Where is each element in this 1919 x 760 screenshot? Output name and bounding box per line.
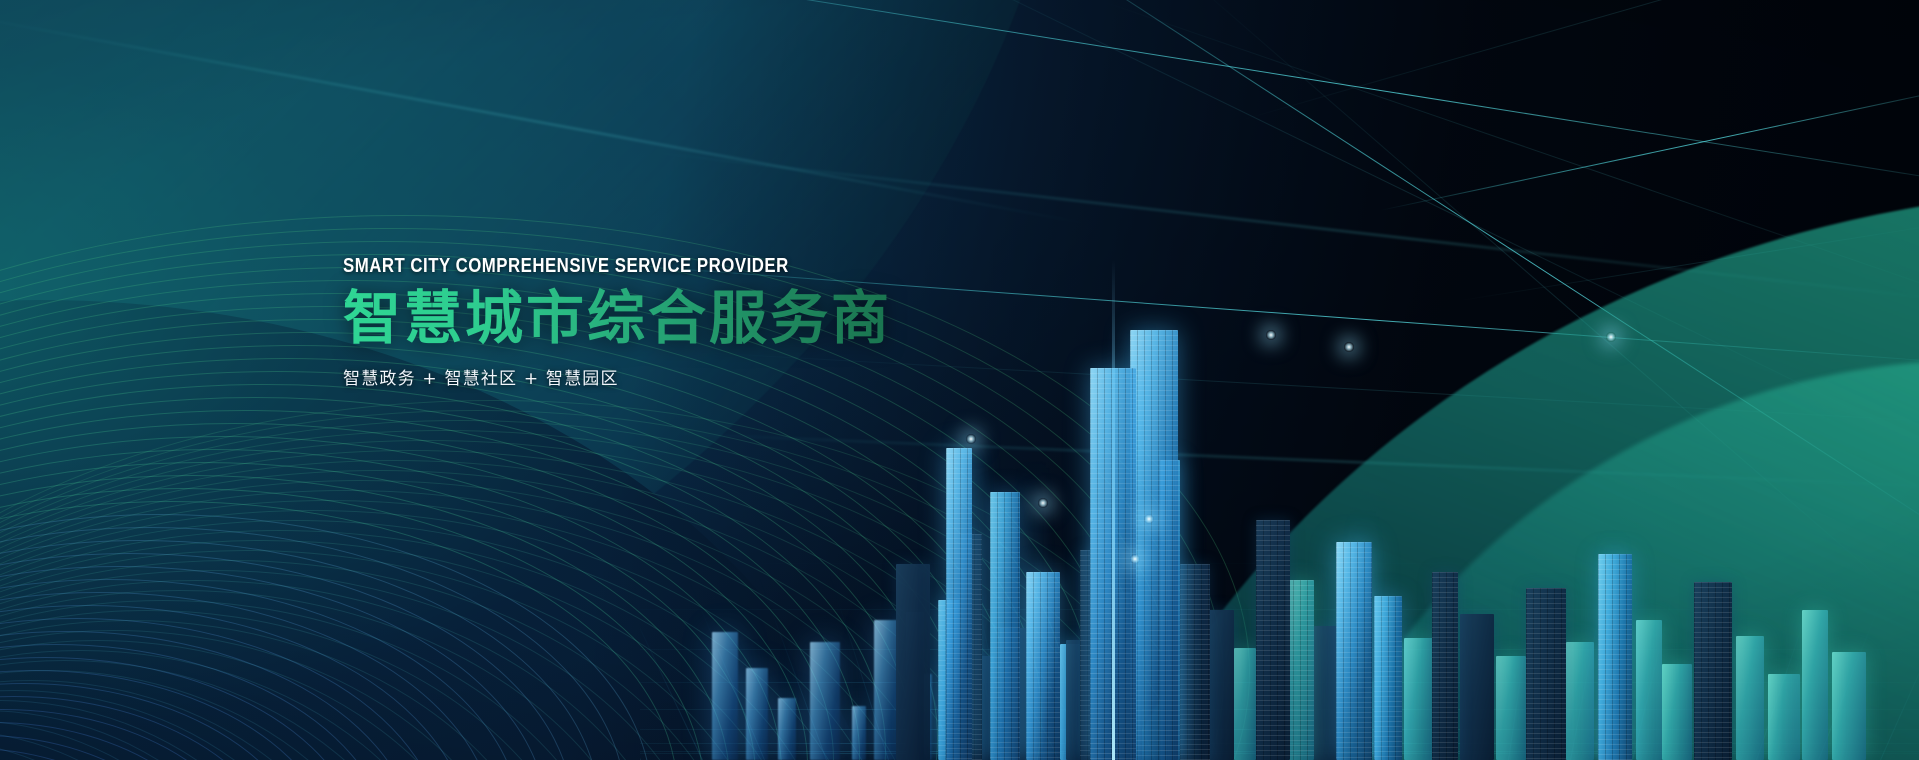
eyebrow-tagline: SMART CITY COMPREHENSIVE SERVICE PROVIDE… — [343, 255, 804, 278]
building-4 — [852, 706, 866, 760]
tower-spire — [1112, 260, 1115, 760]
lens-flare-3 — [966, 434, 976, 444]
building-34 — [1496, 656, 1526, 760]
building-31 — [1404, 638, 1434, 760]
building-9 — [896, 564, 930, 760]
building-3 — [810, 642, 840, 760]
building-2 — [778, 698, 796, 760]
building-1 — [746, 668, 768, 760]
lens-flare-2 — [1038, 498, 1048, 508]
building-29 — [1336, 542, 1372, 760]
building-42 — [1768, 674, 1800, 760]
lens-flare-4 — [1344, 342, 1354, 352]
building-15 — [946, 448, 972, 760]
lens-flare-0 — [1130, 554, 1140, 564]
ground-grid-vertical-1 — [640, 579, 703, 760]
building-41 — [1736, 636, 1764, 760]
headline-copy-block: SMART CITY COMPREHENSIVE SERVICE PROVIDE… — [343, 255, 892, 389]
light-ray-9 — [1240, 0, 1919, 121]
building-39 — [1662, 664, 1692, 760]
lens-flare-6 — [1606, 332, 1616, 342]
building-27 — [1286, 580, 1314, 760]
building-37 — [1598, 554, 1632, 760]
lens-flare-1 — [1144, 514, 1154, 524]
building-44 — [1832, 652, 1866, 760]
building-26 — [1256, 520, 1290, 760]
building-36 — [1566, 642, 1594, 760]
building-14 — [990, 492, 1020, 760]
building-24 — [1234, 648, 1256, 760]
building-5 — [874, 620, 898, 760]
lens-flare-5 — [1266, 330, 1276, 340]
smart-city-banner: SMART CITY COMPREHENSIVE SERVICE PROVIDE… — [0, 0, 1919, 760]
building-28 — [1314, 626, 1338, 760]
page-title: 智慧城市综合服务商 — [343, 287, 892, 350]
building-40 — [1694, 582, 1732, 760]
building-22 — [1180, 564, 1210, 760]
subtitle-services: 智慧政务 + 智慧社区 + 智慧园区 — [343, 364, 892, 389]
building-30 — [1374, 596, 1402, 760]
building-33 — [1460, 614, 1494, 760]
building-12 — [1026, 572, 1060, 760]
building-32 — [1432, 572, 1458, 760]
building-35 — [1526, 588, 1566, 760]
building-43 — [1802, 610, 1828, 760]
building-38 — [1636, 620, 1662, 760]
building-20 — [1130, 330, 1178, 760]
building-0 — [712, 632, 738, 760]
building-23 — [1208, 610, 1234, 760]
